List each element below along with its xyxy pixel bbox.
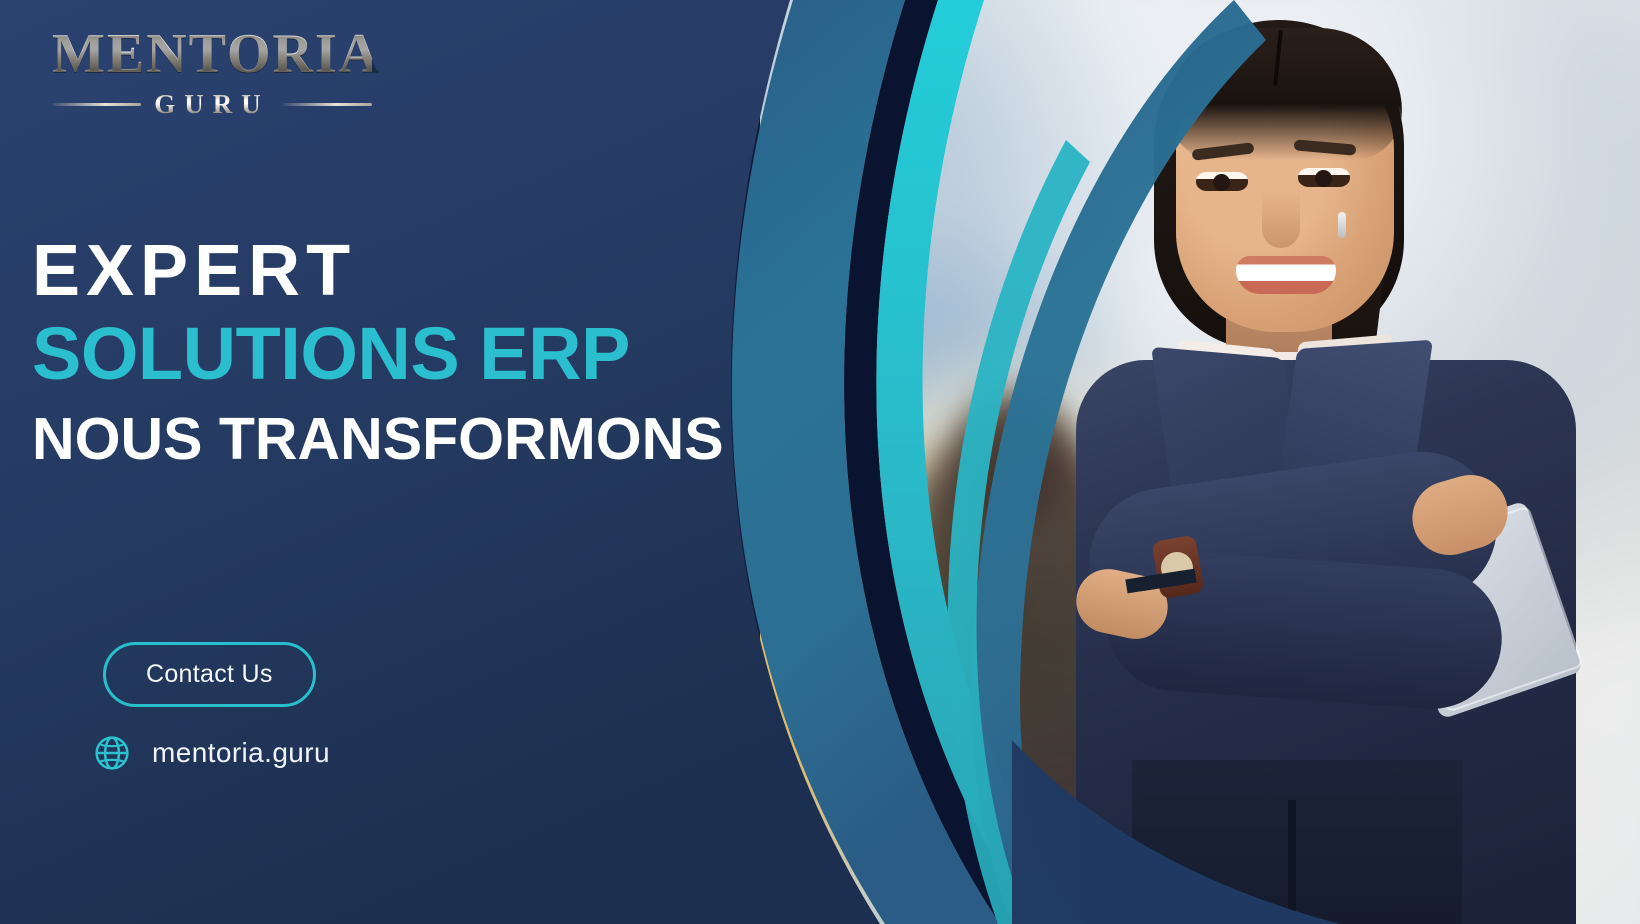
logo-rule-left xyxy=(52,103,141,106)
eye-left xyxy=(1196,172,1248,191)
logo-sub-row: GURU xyxy=(52,91,372,118)
headline-block: EXPERT SOLUTIONS ERP NOUS TRANSFORMONS xyxy=(32,233,772,471)
hero-content: MENTORIA GURU EXPERT SOLUTIONS ERP NOUS … xyxy=(0,0,800,924)
hair-front xyxy=(1168,28,1402,160)
mouth-smile xyxy=(1236,256,1336,294)
earring xyxy=(1338,212,1346,238)
logo-subtitle: GURU xyxy=(154,91,270,118)
logo-wordmark: MENTORIA xyxy=(52,26,372,82)
eye-right xyxy=(1298,168,1350,187)
headline-line-nous-transformons: NOUS TRANSFORMONS xyxy=(32,408,772,472)
businesswoman-subject xyxy=(980,0,1640,924)
contact-us-button[interactable]: Contact Us xyxy=(103,642,316,707)
logo-rule-right xyxy=(283,103,372,106)
website-label: mentoria.guru xyxy=(152,737,330,769)
trousers xyxy=(1132,760,1462,924)
hero-banner: MENTORIA GURU EXPERT SOLUTIONS ERP NOUS … xyxy=(0,0,1640,924)
hero-photo xyxy=(760,0,1640,924)
pupil-left xyxy=(1213,174,1230,191)
globe-icon xyxy=(92,733,132,773)
trouser-seam xyxy=(1288,800,1296,924)
brand-logo[interactable]: MENTORIA GURU xyxy=(52,26,372,118)
headline-line-solutions-erp: SOLUTIONS ERP xyxy=(32,315,772,393)
nose xyxy=(1262,190,1300,248)
website-link[interactable]: mentoria.guru xyxy=(92,733,330,773)
headline-line-expert: EXPERT xyxy=(32,233,772,309)
pupil-right xyxy=(1315,170,1332,187)
